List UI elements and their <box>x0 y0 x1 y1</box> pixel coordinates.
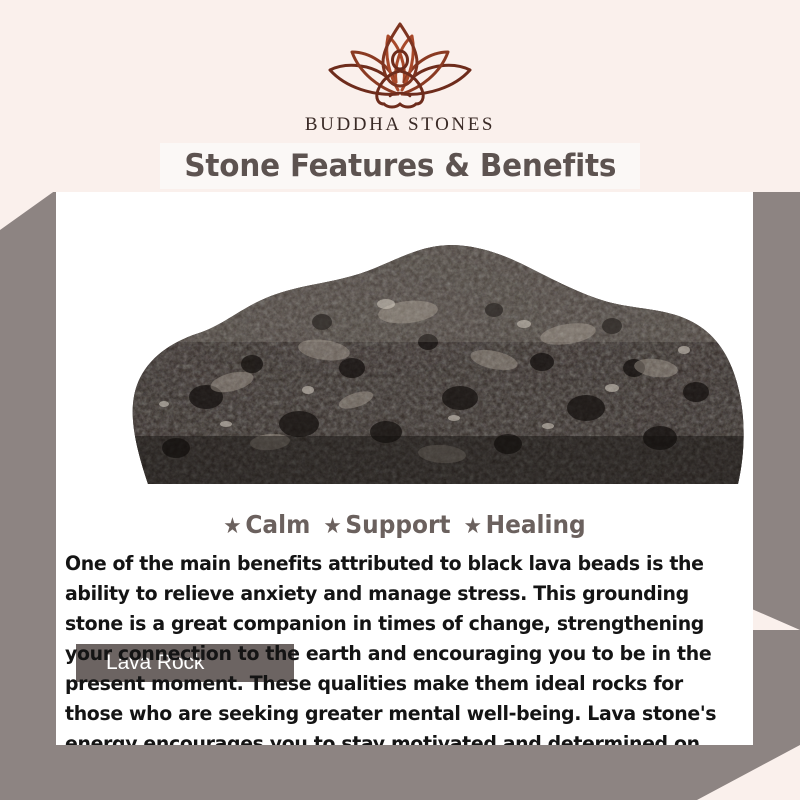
brand-logo: BUDDHA STONES <box>0 16 800 136</box>
title-banner: Stone Features & Benefits <box>160 143 640 189</box>
benefit-support-label: Support <box>345 510 450 539</box>
page-title: Stone Features & Benefits <box>184 148 616 184</box>
benefit-calm-label: Calm <box>245 510 310 539</box>
benefit-calm: ★Calm <box>223 510 310 539</box>
frame-bevel-left <box>0 190 56 230</box>
star-icon: ★ <box>323 514 341 539</box>
benefits-row: ★Calm★Support★Healing <box>80 510 728 539</box>
infographic-canvas: BUDDHA STONES Stone Features & Benefits <box>0 0 800 800</box>
header: BUDDHA STONES Stone Features & Benefits <box>0 0 800 192</box>
star-icon: ★ <box>464 514 482 539</box>
description-paragraph: One of the main benefits attributed to b… <box>65 549 734 745</box>
content-lower: ★Calm★Support★Healing One of the main be… <box>56 492 753 745</box>
lava-rock-photo <box>56 192 753 484</box>
content-card: Lava Rock ★Calm★Support★Healing One of t… <box>56 192 753 745</box>
star-icon: ★ <box>223 514 241 539</box>
benefit-healing-label: Healing <box>486 510 586 539</box>
lotus-meditation-icon <box>320 16 480 112</box>
frame-band-bottom <box>0 745 800 800</box>
brand-wordmark: BUDDHA STONES <box>0 114 800 136</box>
frame-band-left <box>0 190 56 800</box>
frame-bevel-bottom-right <box>697 745 800 800</box>
lava-rock-illustration <box>56 192 753 484</box>
benefit-support: ★Support <box>323 510 450 539</box>
benefit-healing: ★Healing <box>464 510 586 539</box>
